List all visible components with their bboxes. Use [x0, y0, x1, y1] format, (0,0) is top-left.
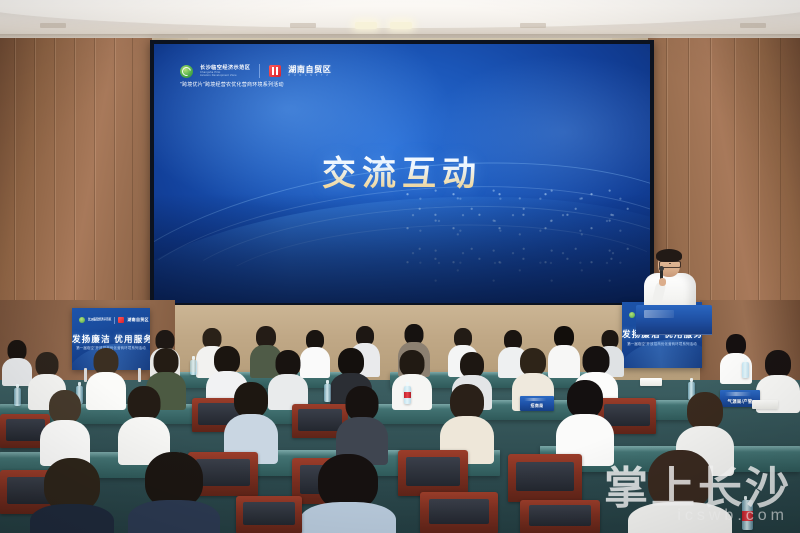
water-bottle	[742, 500, 753, 530]
screen-main-title: 交流互动	[154, 146, 650, 195]
conference-photo-scene: 长沙临空经济示范区 Changsha Pilot Aviation Develo…	[0, 0, 800, 533]
document-paper	[640, 378, 662, 386]
audience-person-foreground	[30, 458, 114, 533]
logo-divider	[259, 64, 260, 78]
ceiling-vent	[290, 23, 316, 28]
water-bottle	[324, 384, 331, 402]
water-bottle	[404, 386, 411, 404]
audience-person-foreground	[128, 452, 220, 533]
audience-person-foreground	[300, 454, 396, 533]
red-block-icon	[269, 65, 281, 77]
audience-person	[392, 350, 432, 408]
banner-leg	[138, 368, 141, 382]
partner-name-cn: 湖南自贸区	[288, 65, 331, 74]
audience-person-foreground	[628, 450, 732, 533]
water-bottle	[190, 360, 197, 375]
podium-emblem	[644, 310, 674, 318]
placard-logo	[520, 398, 554, 401]
banner-right-subline: 第一届临空"开放招商优化营商环境系列活动	[622, 341, 702, 346]
led-screen: 长沙临空经济示范区 Changsha Pilot Aviation Develo…	[154, 44, 650, 303]
chair	[520, 500, 600, 533]
chair	[398, 450, 468, 496]
audience-person	[118, 386, 170, 462]
screen-subtitle: "跨境优片"跨境经营农优化营商环境系列活动	[180, 82, 331, 89]
audience-person	[336, 386, 388, 462]
chair	[508, 454, 582, 502]
desk-placard: 招商局	[520, 396, 554, 411]
leaf-circle-icon	[180, 65, 193, 78]
banner-left-headline: 发扬廉洁 优用服务	[72, 333, 150, 345]
ceiling-vent	[520, 23, 546, 28]
banner-org-en: Changsha Pilot	[88, 321, 111, 323]
banner-partner-cn: 湖南自贸区	[127, 318, 149, 323]
ceiling-light	[355, 22, 377, 29]
speaker-hand	[659, 278, 666, 286]
logo-divider	[114, 317, 115, 324]
ceiling-vent	[740, 23, 766, 28]
chair	[236, 496, 302, 533]
document-paper	[752, 400, 778, 409]
screen-bottom-gradient	[154, 194, 650, 303]
organizer-name-en-2: Aviation Development Zone	[200, 74, 250, 77]
screen-logo-lockup: 长沙临空经济示范区 Changsha Pilot Aviation Develo…	[180, 64, 331, 89]
ceiling	[0, 0, 800, 40]
podium	[636, 305, 712, 335]
water-bottle	[742, 362, 749, 378]
placard-label: 招商局	[531, 403, 544, 411]
audience-person	[40, 390, 90, 462]
audience-person	[556, 380, 614, 464]
audience-person	[224, 382, 278, 462]
red-block-icon	[118, 317, 124, 323]
ceiling-vent	[40, 23, 66, 28]
chair	[420, 492, 498, 533]
partner-name-en: H U N A N F T Z	[288, 74, 331, 77]
water-bottle	[14, 388, 21, 406]
speaker-at-podium	[624, 248, 720, 328]
leaf-circle-icon	[79, 317, 85, 323]
led-screen-frame: 长沙临空经济示范区 Changsha Pilot Aviation Develo…	[150, 40, 654, 307]
ceiling-light	[390, 22, 412, 29]
